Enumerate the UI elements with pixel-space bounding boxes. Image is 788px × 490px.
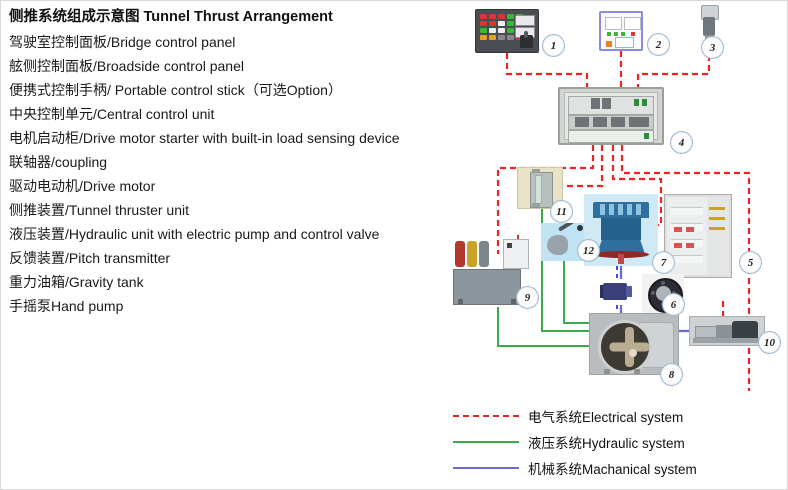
panel-led xyxy=(621,32,625,36)
pump-knob xyxy=(577,225,583,231)
panel-key xyxy=(480,14,487,19)
cooling-fin xyxy=(609,204,614,215)
breaker xyxy=(611,117,625,127)
diagram-page: 侧推系统组成示意图 Tunnel Thrust Arrangement 驾驶室控… xyxy=(0,0,788,490)
plc-module xyxy=(602,98,611,109)
tank-leg xyxy=(458,299,463,304)
system-diagram: 1 2 3 xyxy=(1,1,788,401)
panel-display-lower xyxy=(615,37,634,48)
panel-key xyxy=(489,35,496,40)
badge-11: 11 xyxy=(550,200,573,223)
drive-motor-image xyxy=(689,316,765,346)
wire-bundle xyxy=(709,227,725,230)
support-foot xyxy=(634,369,640,374)
badge-1: 1 xyxy=(542,34,565,57)
pump-body xyxy=(547,235,568,255)
gear-housing-mid xyxy=(601,218,641,240)
badge-10: 10 xyxy=(758,331,781,354)
contactor xyxy=(686,227,694,232)
broadside-control-panel-image xyxy=(599,11,643,51)
din-rail xyxy=(671,255,703,263)
panel-key xyxy=(489,28,496,33)
panel-key xyxy=(498,14,505,19)
panel-joystick xyxy=(520,35,533,48)
line-panel3-to-ccu xyxy=(638,55,709,87)
panel-key xyxy=(507,14,514,19)
panel-key xyxy=(507,28,514,33)
tank-cap-bottom xyxy=(532,203,540,207)
tunnel-ring xyxy=(598,320,652,374)
panel-key xyxy=(489,14,496,19)
panel-key xyxy=(480,28,487,33)
panel-key xyxy=(507,35,514,40)
badge-2: 2 xyxy=(647,33,670,56)
support-foot xyxy=(604,369,610,374)
contactor xyxy=(686,243,694,248)
panel-key xyxy=(498,21,505,26)
badge-12: 12 xyxy=(577,239,600,262)
panel-key xyxy=(489,21,496,26)
badge-8: 8 xyxy=(660,363,683,386)
stick-body xyxy=(703,17,715,36)
terminal-green xyxy=(644,133,649,139)
breaker xyxy=(575,117,589,127)
legend-row-electrical: 电气系统Electrical system xyxy=(453,403,697,429)
propeller-hub-center xyxy=(629,349,637,357)
line-hydraulic-to-thruster xyxy=(498,307,589,346)
panel-led xyxy=(607,32,611,36)
cabinet-side-panel xyxy=(707,197,729,275)
filter-red xyxy=(455,241,465,267)
line-ccu-to-gravity-tank xyxy=(563,145,602,186)
plc-row xyxy=(568,96,654,115)
drive-shaft xyxy=(618,254,624,264)
panel-key xyxy=(498,28,505,33)
legend-label-electrical: 电气系统Electrical system xyxy=(528,406,683,426)
badge-3: 3 xyxy=(701,36,724,59)
oil-tank xyxy=(453,269,521,305)
coupling-bolt xyxy=(651,291,655,295)
panel-key xyxy=(480,35,487,40)
motor-base xyxy=(693,338,761,343)
breaker xyxy=(629,117,649,127)
badge-9: 9 xyxy=(516,286,539,309)
panel-display-right xyxy=(624,17,641,30)
panel-led xyxy=(606,41,612,47)
control-box xyxy=(503,239,529,269)
cabinet-interior xyxy=(564,92,658,140)
cooling-fin xyxy=(636,204,641,215)
legend-label-hydraulic: 液压系统Hydraulic system xyxy=(528,432,685,452)
din-rail xyxy=(671,207,703,215)
control-box-led xyxy=(507,243,512,248)
badge-6: 6 xyxy=(662,293,685,316)
cooling-fin xyxy=(618,204,623,215)
terminal-green xyxy=(634,99,639,106)
panel-display-top xyxy=(515,15,535,26)
central-control-unit-image xyxy=(558,87,664,145)
legend-row-hydraulic: 液压系统Hydraulic system xyxy=(453,429,697,455)
panel-key xyxy=(507,21,514,26)
wire-bundle xyxy=(709,207,725,210)
sight-glass xyxy=(535,175,542,204)
transmitter-flange-right xyxy=(626,286,632,297)
terminal-row xyxy=(568,130,654,143)
coupling-bolt xyxy=(661,281,665,285)
filter-yellow xyxy=(467,241,477,267)
badge-4: 4 xyxy=(670,131,693,154)
tank-cap-top xyxy=(532,169,540,173)
contactor xyxy=(674,243,682,248)
line-panel1-to-ccu xyxy=(507,53,587,87)
wire-bundle xyxy=(709,217,725,220)
panel-led xyxy=(614,32,618,36)
valve-block xyxy=(479,241,489,267)
bridge-control-panel-image xyxy=(475,9,539,53)
breaker-row xyxy=(568,115,654,130)
badge-7: 7 xyxy=(652,251,675,274)
pump-lever xyxy=(558,223,579,232)
legend: 电气系统Electrical system 液压系统Hydraulic syst… xyxy=(453,403,697,481)
cooling-fin xyxy=(600,204,605,215)
panel-led xyxy=(631,32,635,36)
transmitter-body xyxy=(603,283,627,300)
panel-display-left xyxy=(605,17,622,30)
line-handpump-to-thruster xyxy=(564,261,589,323)
contactor xyxy=(674,227,682,232)
panel-key xyxy=(498,35,505,40)
cooling-fin xyxy=(627,204,632,215)
legend-label-mechanical: 机械系统Machanical system xyxy=(528,458,697,478)
legend-row-mechanical: 机械系统Machanical system xyxy=(453,455,697,481)
panel-key xyxy=(480,21,487,26)
pitch-transmitter-image xyxy=(600,279,634,305)
breaker xyxy=(593,117,607,127)
badge-5: 5 xyxy=(739,251,762,274)
terminal-green xyxy=(642,99,647,106)
plc-module xyxy=(591,98,600,109)
